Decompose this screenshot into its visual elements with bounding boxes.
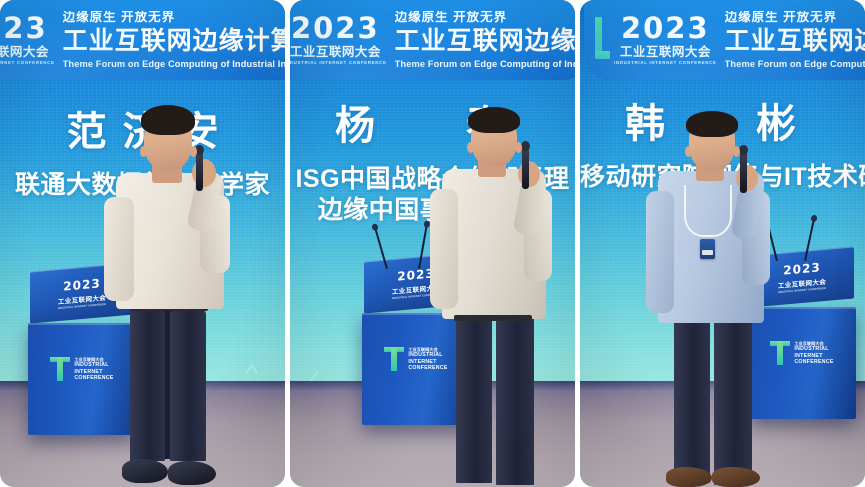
- logo-cn-name: 工业互联网大会: [0, 46, 55, 59]
- speaker-figure-2: [426, 67, 575, 487]
- conference-lmark-icon: [590, 15, 610, 65]
- logo-en-name: INDUSTRIAL INTERNET CONFERENCE: [290, 61, 387, 65]
- speaker-hair: [468, 107, 520, 133]
- conference-logo-2: 2023 工业互联网大会 INDUSTRIAL INTERNET CONFERE…: [290, 14, 387, 65]
- banner-title: 工业互联网边缘计算论坛: [725, 29, 865, 54]
- speaker-figure-1: [96, 87, 246, 487]
- speaker-figure-3: [644, 67, 794, 487]
- handheld-microphone-1: [196, 151, 203, 191]
- banner-text-group-1: 边缘原生 开放无界 工业互联网边缘计算论坛 Theme Forum on Edg…: [63, 11, 285, 69]
- banner-kicker: 边缘原生 开放无界: [63, 11, 285, 24]
- podium-logo-en1: INDUSTRIAL: [794, 346, 833, 353]
- forum-banner-1: 2023 工业互联网大会 INDUSTRIAL INTERNET CONFERE…: [0, 0, 285, 80]
- shoe-left: [666, 467, 712, 487]
- speaker-lanyard: [684, 185, 732, 237]
- banner-text-group-3: 边缘原生 开放无界 工业互联网边缘计算论坛 Theme Forum on Edg…: [725, 11, 865, 69]
- podium-logo-en3: CONFERENCE: [794, 359, 833, 366]
- logo-cn-name: 工业互联网大会: [614, 46, 717, 59]
- banner-text-group-2: 边缘原生 开放无界 工业互联网边缘计算论坛 Theme Forum on Edg…: [395, 11, 575, 69]
- banner-title: 工业互联网边缘计算论坛: [63, 29, 285, 54]
- photo-panel-2[interactable]: 2023 工业互联网大会 INDUSTRIAL INTERNET CONFERE…: [290, 0, 575, 487]
- speaker-hair: [686, 111, 738, 137]
- logo-en-name: INDUSTRIAL INTERNET CONFERENCE: [0, 61, 55, 65]
- shoe-left: [122, 459, 168, 483]
- logo-year: 2023: [614, 14, 717, 43]
- handheld-microphone-3: [740, 151, 747, 193]
- conference-logo-3: 2023 工业互联网大会 INDUSTRIAL INTERNET CONFERE…: [614, 14, 717, 65]
- banner-title: 工业互联网边缘计算论坛: [395, 29, 575, 54]
- logo-year: 2023: [290, 14, 387, 43]
- logo-year: 2023: [0, 14, 55, 43]
- shoe-right: [168, 461, 216, 485]
- t-mark-icon: [50, 357, 70, 381]
- logo-cn-name: 工业互联网大会: [290, 46, 387, 59]
- speaker-photo-gallery: 2023 工业互联网大会 INDUSTRIAL INTERNET CONFERE…: [0, 0, 865, 487]
- banner-kicker: 边缘原生 开放无界: [395, 11, 575, 24]
- t-mark-icon: [384, 347, 404, 371]
- photo-panel-1[interactable]: 2023 工业互联网大会 INDUSTRIAL INTERNET CONFERE…: [0, 0, 285, 487]
- handheld-microphone-2: [522, 147, 529, 189]
- banner-kicker: 边缘原生 开放无界: [725, 11, 865, 24]
- logo-en-name: INDUSTRIAL INTERNET CONFERENCE: [614, 61, 717, 65]
- shoe-right: [712, 467, 760, 487]
- speaker-badge: [700, 239, 715, 259]
- conference-logo-1: 2023 工业互联网大会 INDUSTRIAL INTERNET CONFERE…: [0, 14, 55, 65]
- photo-panel-3[interactable]: 2023 工业互联网大会 INDUSTRIAL INTERNET CONFERE…: [580, 0, 865, 487]
- banner-subtitle: Theme Forum on Edge Computing of Industr…: [63, 60, 285, 69]
- speaker-hair: [141, 105, 195, 135]
